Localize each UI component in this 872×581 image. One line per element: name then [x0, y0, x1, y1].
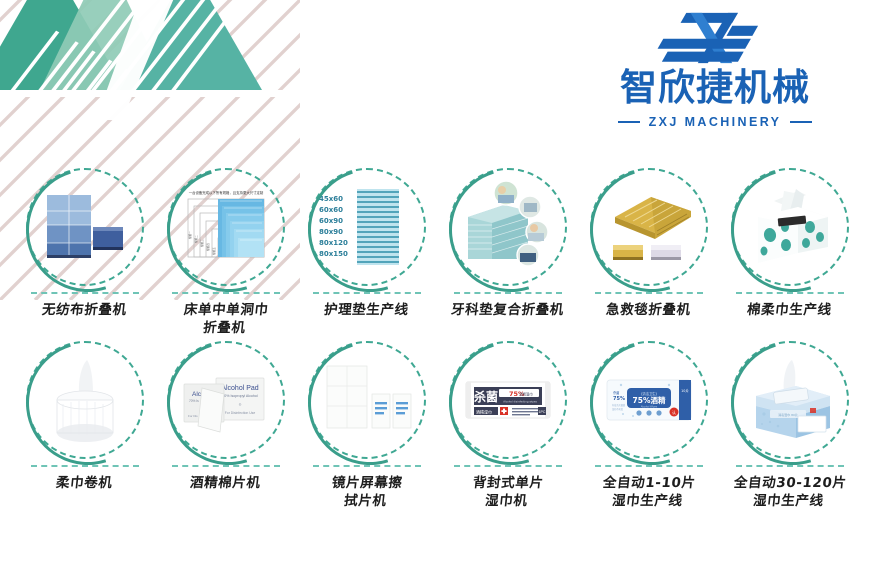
logo-rule-left [618, 121, 640, 123]
gold-emergency-blanket-icon [599, 177, 699, 277]
product-card-lens-screen-wipe-machine[interactable]: 镜片屏幕擦 拭片机 [296, 341, 437, 510]
blue-nonwoven-sheets-icon [35, 177, 135, 277]
blue-wipe-tub-icon: 消毒湿巾 80片 [740, 350, 840, 450]
product-label: 急救毯折叠机 [605, 301, 692, 319]
product-card-auto-30-120-wipe-line[interactable]: 消毒湿巾 80片 全自动30-120片 湿巾生产线 [719, 341, 860, 510]
svg-text:60x60: 60x60 [319, 206, 343, 214]
svg-text:80x150: 80x150 [319, 250, 348, 258]
svg-text:杀菌: 杀菌 [613, 390, 619, 395]
product-label: 无纺布折叠机 [41, 301, 128, 319]
zxj-monogram-icon [657, 10, 773, 66]
card-divider [736, 465, 844, 467]
product-label: 柔巾卷机 [55, 474, 113, 492]
striped-pad-with-sizes-icon: 45x60 60x60 60x90 80x90 80x120 80x150 [317, 177, 417, 277]
product-card-alcohol-pad-machine[interactable]: Alcohol Pad 70% Isopropyl Alcohol ® For … [155, 341, 296, 510]
product-card-underpad-production-line[interactable]: 45x60 60x60 60x90 80x90 80x120 80x150 护理… [296, 168, 437, 337]
product-label: 背封式单片 湿巾机 [470, 474, 544, 510]
product-label: 牙科垫复合折叠机 [450, 301, 565, 319]
card-divider [172, 465, 280, 467]
svg-text:规格五: 规格五 [212, 247, 216, 255]
svg-text:酒精湿巾: 酒精湿巾 [476, 409, 492, 415]
product-card-bedsheet-drape-folding-machine[interactable]: 一台设备完成以下所有规格，且支持更大尺寸定制 [155, 168, 296, 337]
svg-text:Alcohol Wipes: Alcohol Wipes [640, 405, 657, 409]
svg-text:认: 认 [672, 409, 676, 415]
svg-text:温和不刺激: 温和不刺激 [612, 407, 624, 411]
product-card-back-seal-single-wet-wipe-machine[interactable]: 杀菌 75% 酒精湿巾 Alcohol disinfecting wipes 酒… [437, 341, 578, 510]
product-label: 全自动1-10片 湿巾生产线 [600, 474, 696, 510]
product-image-circle [590, 168, 708, 286]
card-divider [313, 465, 421, 467]
brand-logo: 智欣捷机械 ZXJ MACHINERY [600, 8, 830, 138]
size-chart-sheets-icon: 一台设备完成以下所有规格，且支持更大尺寸定制 [176, 177, 276, 277]
svg-text:酒精湿巾: 酒精湿巾 [519, 392, 533, 397]
svg-text:杀菌: 杀菌 [473, 389, 497, 404]
svg-text:®: ® [238, 403, 241, 407]
white-towel-roll-icon [35, 350, 135, 450]
svg-text:规格二: 规格二 [194, 235, 198, 243]
svg-text:1PC: 1PC [538, 410, 545, 414]
alcohol-pad-sachets-icon: Alcohol Pad 70% Isopropyl Alcohol ® For … [176, 350, 276, 450]
product-grid: 无纺布折叠机 一台设备完成以下所有规格，且支持更大尺寸定制 [14, 168, 860, 511]
lens-wipe-sachets-icon [317, 350, 417, 450]
product-label: 护理垫生产线 [323, 301, 410, 319]
svg-text:规格三: 规格三 [200, 239, 204, 247]
product-card-emergency-blanket-folding-machine[interactable]: 急救毯折叠机 [578, 168, 719, 337]
svg-text:75%: 75% [509, 390, 525, 398]
svg-text:80x90: 80x90 [319, 228, 343, 236]
product-image-circle: 杀菌 75% 酒精湿巾 Alcohol disinfecting wipes 酒… [449, 341, 567, 459]
product-label: 全自动30-120片 湿巾生产线 [731, 474, 847, 510]
product-image-circle [308, 341, 426, 459]
svg-text:75%酒精: 75%酒精 [632, 395, 665, 405]
svg-text:Alc: Alc [192, 391, 202, 398]
product-image-circle [449, 168, 567, 286]
card-divider [31, 465, 139, 467]
svg-text:Alcohol Pad: Alcohol Pad [221, 385, 258, 392]
product-image-circle [731, 168, 849, 286]
product-label: 棉柔巾生产线 [746, 301, 833, 319]
product-image-circle [26, 341, 144, 459]
product-image-circle: 10片 【清洁卫生】 75%酒精 Alcohol Wipes 杀菌 75% 有效… [590, 341, 708, 459]
product-image-circle: 一台设备完成以下所有规格，且支持更大尺寸定制 [167, 168, 285, 286]
product-label: 床单中单洞巾 折叠机 [181, 301, 269, 337]
blue-wipe-pouch-icon: 10片 【清洁卫生】 75%酒精 Alcohol Wipes 杀菌 75% 有效… [599, 350, 699, 450]
brand-name-en: ZXJ MACHINERY [649, 115, 782, 129]
product-card-cotton-tissue-production-line[interactable]: 棉柔巾生产线 [719, 168, 860, 337]
svg-text:70% Isopropyl Alcohol: 70% Isopropyl Alcohol [222, 394, 258, 398]
svg-text:45x60: 45x60 [319, 195, 343, 203]
single-sachet-wipe-icon: 杀菌 75% 酒精湿巾 Alcohol disinfecting wipes 酒… [458, 350, 558, 450]
product-image-circle: 消毒湿巾 80片 [731, 341, 849, 459]
svg-text:有效杀灭细菌: 有效杀灭细菌 [612, 403, 626, 407]
svg-text:For Disinfection Use: For Disinfection Use [224, 411, 255, 415]
svg-text:For Dis: For Dis [188, 414, 198, 418]
card-divider [595, 465, 703, 467]
product-image-circle [26, 168, 144, 286]
svg-text:60x90: 60x90 [319, 217, 343, 225]
logo-rule-right [790, 121, 812, 123]
svg-text:75%: 75% [613, 396, 625, 402]
dental-pad-stack-with-photos-icon [458, 177, 558, 277]
svg-text:规格一: 规格一 [188, 231, 192, 239]
svg-text:Alcohol disinfecting wipes: Alcohol disinfecting wipes [503, 400, 537, 404]
product-card-nonwoven-folding-machine[interactable]: 无纺布折叠机 [14, 168, 155, 337]
svg-text:80x120: 80x120 [319, 239, 348, 247]
brand-name-cn: 智欣捷机械 [600, 69, 830, 108]
card-divider [454, 465, 562, 467]
product-card-auto-1-10-wipe-line[interactable]: 10片 【清洁卫生】 75%酒精 Alcohol Wipes 杀菌 75% 有效… [578, 341, 719, 510]
svg-text:一台设备完成以下所有规格，且支持更大尺寸定制: 一台设备完成以下所有规格，且支持更大尺寸定制 [188, 190, 263, 195]
product-card-soft-towel-roll-machine[interactable]: 柔巾卷机 [14, 341, 155, 510]
product-image-circle: Alcohol Pad 70% Isopropyl Alcohol ® For … [167, 341, 285, 459]
svg-text:【清洁卫生】: 【清洁卫生】 [639, 391, 658, 396]
product-label: 镜片屏幕擦 拭片机 [329, 474, 403, 510]
product-image-circle: 45x60 60x60 60x90 80x90 80x120 80x150 [308, 168, 426, 286]
product-card-dental-pad-laminating-folding-machine[interactable]: 牙科垫复合折叠机 [437, 168, 578, 337]
svg-text:规格四: 规格四 [206, 243, 210, 251]
svg-text:70% Is: 70% Is [189, 399, 199, 403]
product-label: 酒精棉片机 [189, 474, 261, 492]
svg-text:10片: 10片 [681, 388, 689, 393]
svg-text:消毒湿巾 80片: 消毒湿巾 80片 [778, 412, 798, 417]
tissue-box-teal-pattern-icon [740, 177, 840, 277]
